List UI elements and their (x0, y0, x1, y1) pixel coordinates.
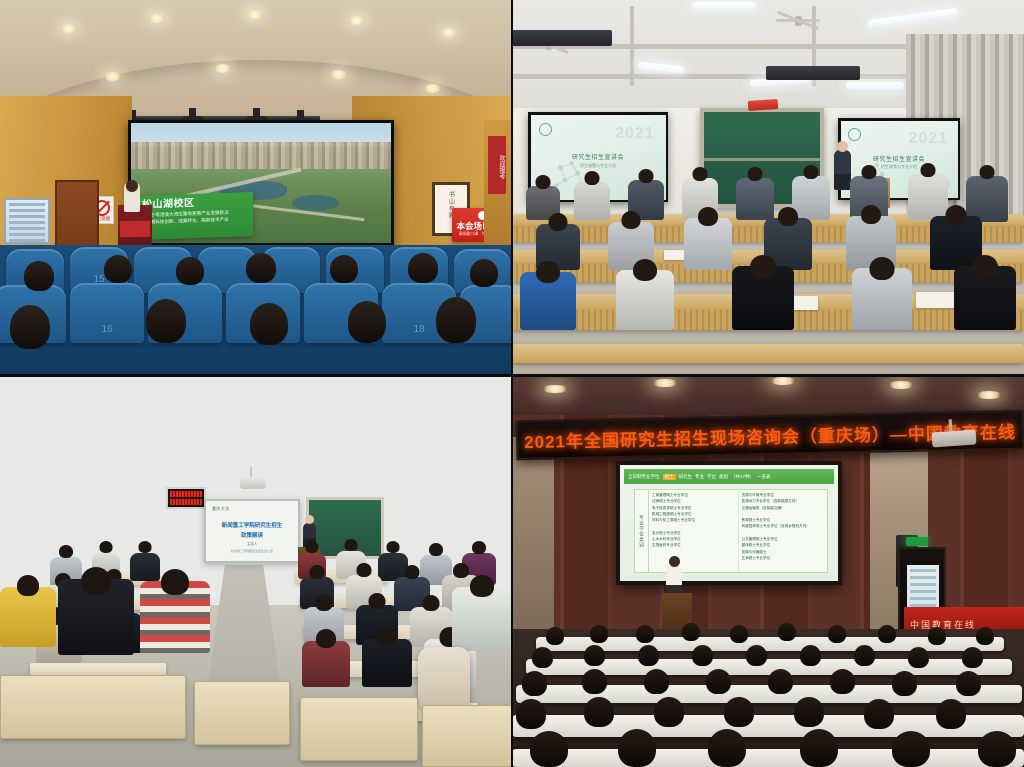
slide: 全日制专业学位 硕士 研究生 专业 学位 类别 （共47种） 一览表 专业学位类… (620, 465, 838, 581)
slide-column-left: 工商管理硕士专业学位 法律硕士专业学位 电子信息类硕士专业学位 机械工程类硕士专… (649, 490, 739, 572)
student-foreground-black-jacket (58, 579, 134, 655)
slide-line-2: 政策解读 (206, 531, 298, 539)
student (616, 270, 674, 330)
slide-green-callout: 松山湖校区 ● 位于粤港澳大湾区腹地莞莞产业发展前沿 ● 近期科技创新、成果转化… (137, 192, 253, 240)
attendee-head (768, 669, 793, 694)
slide-header-part: 专业 (695, 474, 704, 480)
ceiling-downlight (348, 16, 365, 25)
attendee-head (962, 647, 983, 668)
slide-line-1: 新闻重工学院研究生招生 (206, 521, 298, 529)
student-foreground-striped (140, 581, 210, 653)
ceiling-light (692, 2, 756, 9)
attendee-head (348, 301, 386, 343)
attendee-head (830, 669, 855, 694)
attendee-head (146, 299, 186, 343)
attendee-head (246, 253, 276, 283)
attendee-head (956, 671, 981, 696)
ceiling-light (652, 379, 678, 387)
panel-bottom-left-foreground: 重庆大学 新闻重工学院研究生招生 政策解读 主讲人 新闻重工学院研究生招生办公室 (0, 375, 512, 767)
photo-collage: 禁止吸烟 松山湖校区 ● 位于粤港澳大湾区腹地莞莞产业发展前沿 ● 近期科技创新… (0, 0, 1024, 767)
ceiling-downlight (330, 70, 347, 79)
ceiling-downlight (214, 64, 231, 73)
ceiling-downlight (246, 10, 263, 19)
red-flag-decoration (748, 99, 779, 111)
seat-number: 18 (413, 324, 424, 335)
slide-cell: 生物医药专业学位 (652, 542, 735, 548)
attendee-head (176, 257, 204, 285)
ceiling-downlight (148, 14, 165, 23)
attendee-head (794, 697, 824, 727)
panel-top-right-lecture-hall: 2021 研究生招生宣讲会 招生政策与专业介绍 (512, 0, 1024, 375)
ceiling-fan-icon (776, 16, 820, 24)
student (736, 178, 774, 220)
slide-header-part: 类别 (719, 474, 728, 480)
exit-sign (906, 537, 928, 546)
attendee-head (644, 669, 669, 694)
led-display-panel (166, 487, 206, 509)
attendee-head (10, 305, 50, 349)
attendee-head (532, 647, 553, 668)
attendee-head (800, 729, 838, 767)
attendee-head (878, 625, 896, 643)
attendee-head (692, 645, 713, 666)
notice-board (4, 198, 50, 244)
ceiling-projector (932, 429, 977, 447)
collage-divider-horizontal (0, 374, 1024, 377)
panel-top-left-auditorium: 禁止吸烟 松山湖校区 ● 位于粤港澳大湾区腹地莞莞产业发展前沿 ● 近期科技创新… (0, 0, 512, 375)
slide-year: 2021 (615, 125, 655, 143)
attendee-head (590, 625, 608, 643)
side-banner-text: 欢迎报考 (488, 136, 506, 194)
attendee-head (636, 625, 654, 643)
slide-header-part: 全日制专业学位 (628, 474, 660, 480)
student (954, 266, 1016, 330)
university-logo-icon (539, 123, 552, 136)
attendee-head (330, 255, 358, 283)
presenter (124, 182, 140, 212)
attendee-head (708, 729, 746, 767)
attendee-head (778, 623, 796, 641)
attendee-head (470, 259, 498, 287)
slide-header-bar: 全日制专业学位 硕士 研究生 专业 学位 类别 （共47种） 一览表 (624, 469, 834, 484)
chair-back (0, 675, 186, 739)
attendee-head (584, 645, 605, 666)
attendee-head (854, 645, 875, 666)
university-logo-icon (848, 128, 861, 141)
attendee-head (24, 261, 54, 291)
panel-bottom-right-hall: 2021年全国研究生招生现场咨询会（重庆场）—中国教育在线 全日制专业学位 硕士… (512, 375, 1024, 767)
ceiling-light (542, 385, 568, 393)
ceiling-downlight (440, 28, 457, 37)
air-duct (512, 30, 612, 46)
attendee-head (582, 669, 607, 694)
slide-header-part: 一览表 (757, 474, 771, 480)
campus-aerial-photo: 松山湖校区 ● 位于粤港澳大湾区腹地莞莞产业发展前沿 ● 近期科技创新、成果转化… (131, 123, 391, 243)
student-foreground-graphic-shirt (452, 587, 512, 651)
podium-plate (120, 221, 150, 238)
slide-header-part: 研究生 (679, 474, 693, 480)
attendee-head (800, 645, 821, 666)
attendee-head (522, 671, 547, 696)
ceiling-downlight (60, 24, 77, 33)
attendee-head (706, 669, 731, 694)
ceiling-light (888, 381, 914, 389)
attendee-head (436, 297, 476, 343)
slide-header: 重庆大学 (212, 506, 230, 512)
lecturer (834, 150, 851, 190)
attendee-head (516, 699, 546, 729)
attendee-head (584, 697, 614, 727)
desk-row (512, 344, 1024, 363)
student (520, 272, 576, 330)
slide-year: 2021 (909, 130, 949, 148)
attendee-head (724, 697, 754, 727)
attendee-head (638, 645, 659, 666)
attendee-head (892, 671, 917, 696)
attendee-head (546, 627, 564, 645)
attendee-head (976, 627, 994, 645)
attendee-head (978, 731, 1016, 767)
attendee-head (928, 627, 946, 645)
student (684, 218, 732, 270)
slide-header-part: （共47种） (731, 474, 754, 480)
chair-back (422, 705, 512, 767)
audience-seating-area: 15 16 17 18 (0, 245, 512, 375)
attendee-head (530, 731, 568, 767)
stone-wall-band (512, 437, 554, 637)
ceiling-beam (630, 6, 634, 86)
attendee-head (654, 697, 684, 727)
student (852, 268, 912, 330)
ceiling-projector (240, 477, 266, 489)
seat-number: 16 (101, 324, 112, 335)
student (732, 266, 794, 330)
slide-header-highlight: 硕士 (663, 474, 676, 480)
projection-screen: 重庆大学 新闻重工学院研究生招生 政策解读 主讲人 新闻重工学院研究生招生办公室 (204, 499, 300, 563)
attendee-head (936, 699, 966, 729)
student-foreground (0, 587, 56, 647)
seat-row (512, 749, 1024, 767)
slide-header-part: 学位 (707, 474, 716, 480)
auditorium-seat: 16 (70, 283, 144, 343)
student (362, 639, 412, 687)
student (130, 553, 160, 581)
attendee-head (828, 625, 846, 643)
attendee-head (250, 303, 288, 345)
ceiling-downlight (104, 72, 121, 81)
attendee-head (408, 253, 438, 283)
ceiling-light (846, 82, 904, 89)
attendee-head (892, 731, 930, 767)
attendee-head (730, 625, 748, 643)
slide-column-right: 资源与环境专业学位 能源动力专业学位（含新能源方向） 交通运输类（含智能交通） … (739, 490, 828, 572)
student (302, 641, 350, 687)
projection-screen: 全日制专业学位 硕士 研究生 专业 学位 类别 （共47种） 一览表 专业学位类… (616, 461, 842, 585)
ceiling-light (976, 391, 1002, 399)
attendee-head (618, 729, 656, 767)
attendee-head (864, 699, 894, 729)
attendee-head (908, 647, 929, 668)
attendee-head (682, 623, 700, 641)
projection-screen: 松山湖校区 ● 位于粤港澳大湾区腹地莞莞产业发展前沿 ● 近期科技创新、成果转化… (128, 120, 394, 246)
chair-back (194, 681, 290, 745)
ceiling-downlight (424, 84, 441, 93)
slide-line-3: 主讲人 (206, 542, 298, 547)
attendee-head (746, 645, 767, 666)
slide-row-label: 专业学位类别 (635, 490, 649, 572)
backpack (418, 647, 470, 709)
chair-back (300, 697, 418, 761)
slide-cell: 艺术硕士专业学位 (742, 555, 825, 561)
slide-line-4: 新闻重工学院研究生招生办公室 (206, 549, 298, 553)
attendee-head (104, 255, 132, 283)
slide-table: 专业学位类别 工商管理硕士专业学位 法律硕士专业学位 电子信息类硕士专业学位 机… (634, 489, 828, 573)
student (908, 174, 948, 220)
collage-divider-vertical (511, 0, 513, 767)
student (574, 182, 610, 220)
air-duct (766, 66, 860, 80)
ceiling-light (770, 377, 796, 385)
